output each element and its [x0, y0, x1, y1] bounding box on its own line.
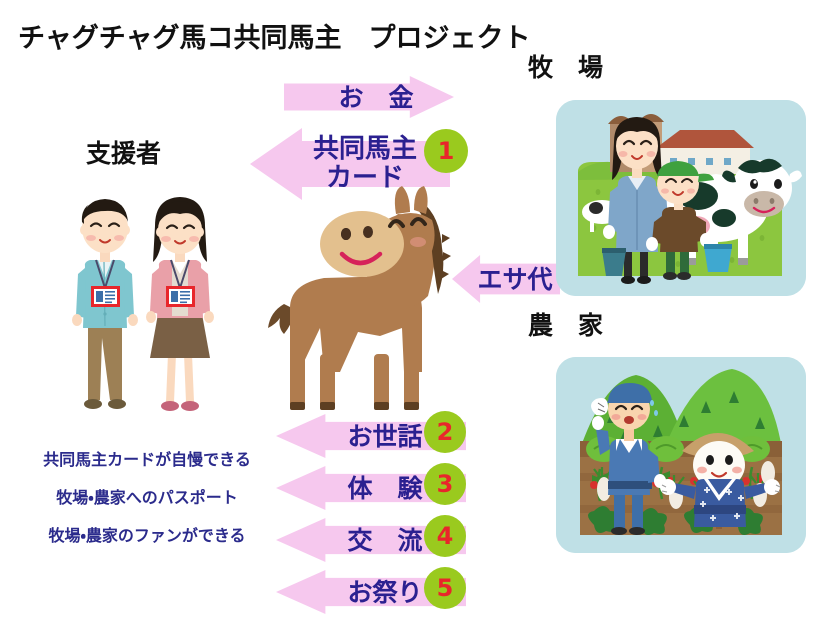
ranch-heading: 牧 場: [528, 48, 603, 84]
step-number-4: 4: [424, 515, 466, 557]
farm-heading: 農 家: [528, 306, 603, 342]
step-number-1: 1: [424, 129, 468, 173]
benefits-list: 共同馬主カードが自慢できる 牧場・農家へのパスポート 牧場・農家のファンができる: [22, 446, 272, 560]
arrow-feed-label: エサ代: [452, 267, 560, 292]
page-title: チャグチャグ馬コ共同馬主 プロジェクト: [18, 16, 530, 55]
step-number-5: 5: [424, 567, 466, 609]
horse-illustration: [262, 176, 472, 426]
benefit-item: 牧場・農家のファンができる: [22, 522, 272, 546]
step-number-2: 2: [424, 411, 466, 453]
arrow-card: 共同馬主 カード: [250, 128, 450, 200]
arrow-card-label: 共同馬主 カード: [250, 135, 450, 193]
step-number-3: 3: [424, 463, 466, 505]
supporters-illustration: [60, 178, 240, 418]
supporters-heading: 支援者: [86, 134, 161, 170]
farm-photo: [556, 357, 806, 553]
benefit-item: 共同馬主カードが自慢できる: [22, 446, 272, 470]
arrow-money-label: お 金: [284, 85, 454, 110]
supporter-woman: [146, 197, 214, 411]
ranch-photo: [556, 100, 806, 296]
benefit-item: 牧場・農家へのパスポート: [22, 484, 272, 508]
arrow-money: お 金: [284, 76, 454, 118]
supporter-man: [72, 199, 138, 409]
